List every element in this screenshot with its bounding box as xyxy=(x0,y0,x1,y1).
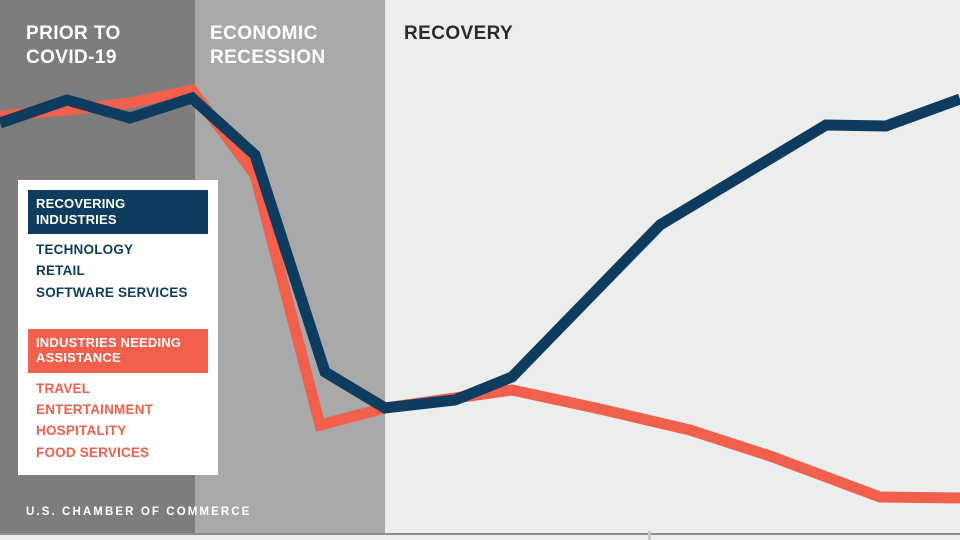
infographic-canvas: PRIOR TO COVID-19 ECONOMIC RECESSION REC… xyxy=(0,0,960,540)
chart-legend: RECOVERING INDUSTRIES TECHNOLOGY RETAIL … xyxy=(18,180,218,475)
legend-item: SOFTWARE SERVICES xyxy=(36,282,208,303)
bottom-axis-tick xyxy=(648,531,651,540)
footer-brand-text: U.S. CHAMBER OF COMMERCE xyxy=(26,506,251,518)
legend-item: FOOD SERVICES xyxy=(36,442,208,463)
legend-item: HOSPITALITY xyxy=(36,420,208,441)
legend-header-industries-needing-assistance: INDUSTRIES NEEDING ASSISTANCE xyxy=(28,329,208,373)
legend-list-industries-needing-assistance: TRAVEL ENTERTAINMENT HOSPITALITY FOOD SE… xyxy=(28,378,208,463)
legend-item: RETAIL xyxy=(36,260,208,281)
legend-header-recovering-industries: RECOVERING INDUSTRIES xyxy=(28,190,208,234)
legend-item: TECHNOLOGY xyxy=(36,239,208,260)
legend-item: ENTERTAINMENT xyxy=(36,399,208,420)
legend-list-recovering-industries: TECHNOLOGY RETAIL SOFTWARE SERVICES xyxy=(28,239,208,303)
legend-item: TRAVEL xyxy=(36,378,208,399)
bottom-divider-rule xyxy=(0,533,960,535)
